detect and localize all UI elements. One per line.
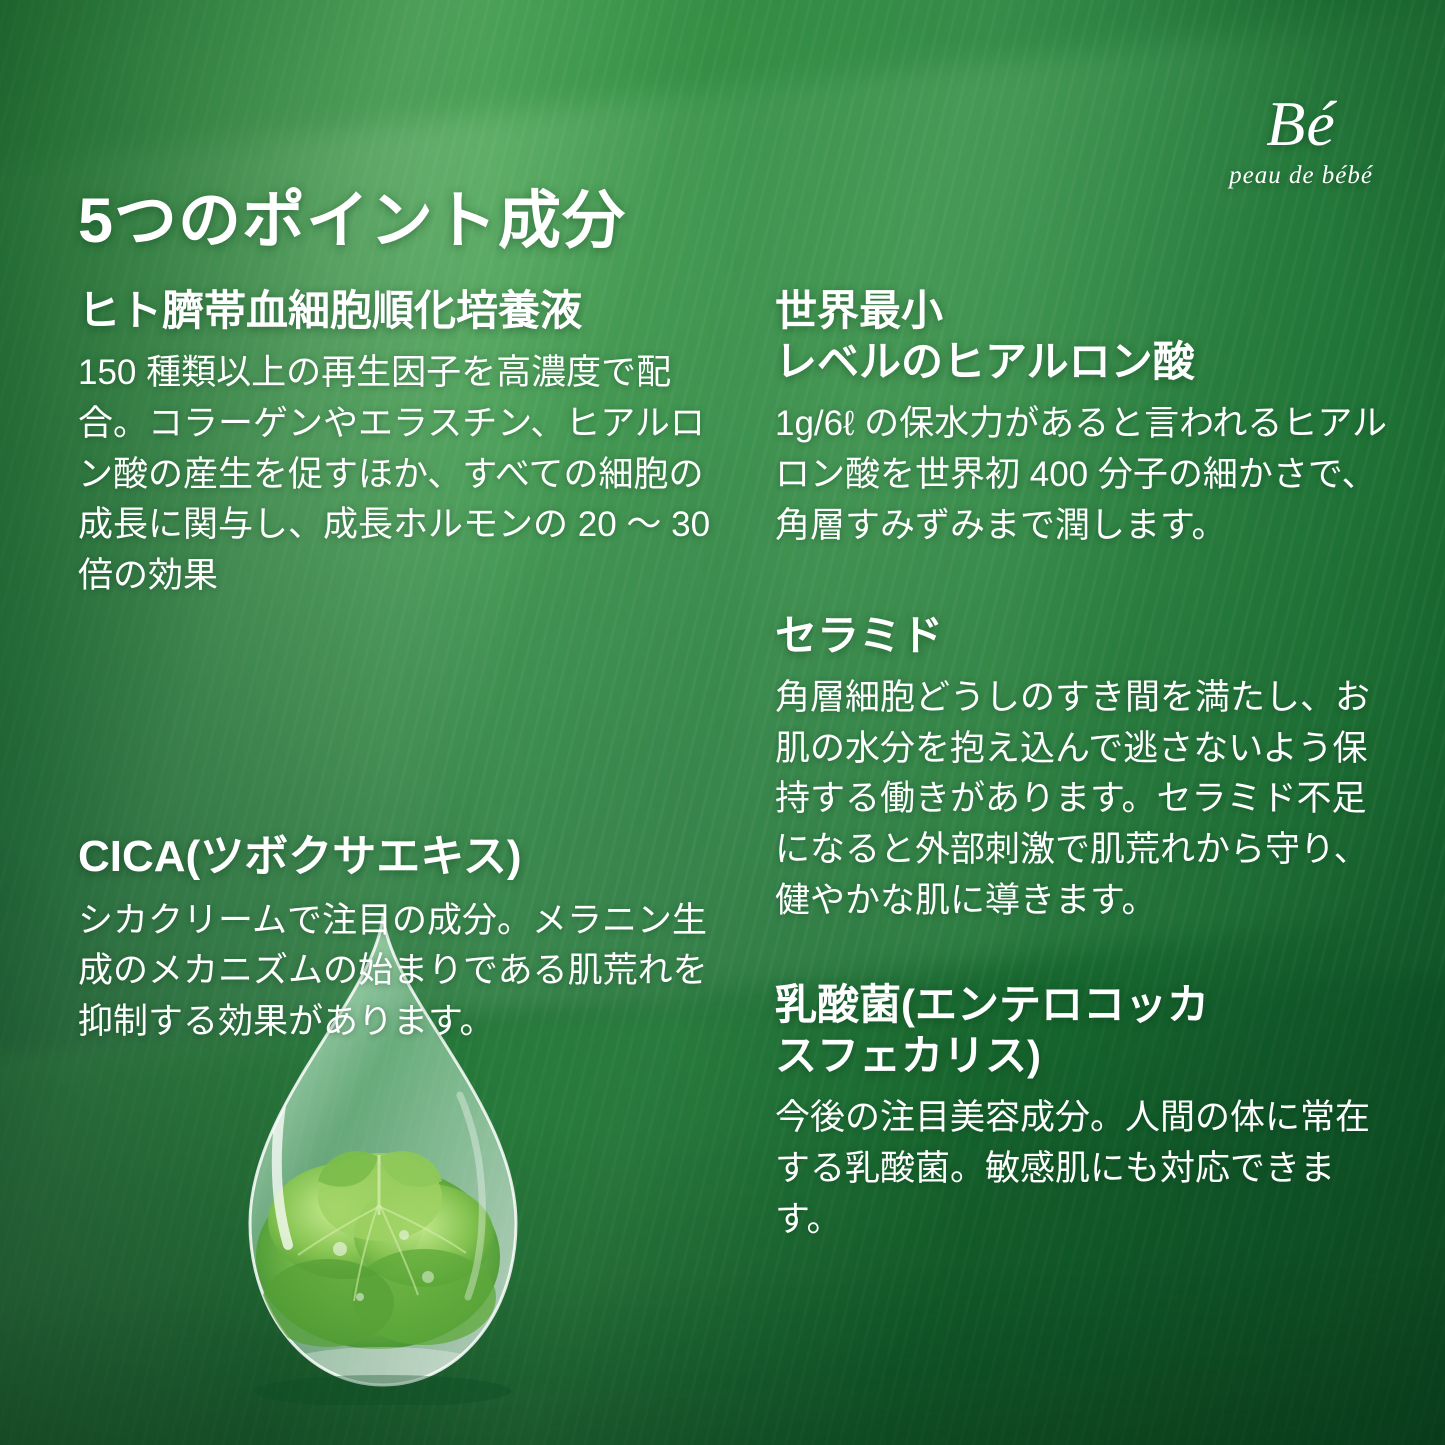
- brand-name: Bé: [1229, 92, 1373, 156]
- ingredient-body: 1g/6ℓ の保水力があると言われるヒアルロン酸を世界初 400 分子の細かさで…: [775, 399, 1395, 551]
- ingredient-block-lactic-acid-bacteria: 乳酸菌(エンテロコッカ スフェカリス) 今後の注目美容成分。人間の体に常在する乳…: [775, 979, 1395, 1246]
- ingredient-body: シカクリームで注目の成分。メラニン生成のメカニズムの始まりである肌荒れを抑制する…: [78, 896, 718, 1048]
- right-column: 世界最小 レベルのヒアルロン酸 1g/6ℓ の保水力があると言われるヒアルロン酸…: [775, 285, 1395, 1287]
- ingredient-heading: 乳酸菌(エンテロコッカ スフェカリス): [775, 979, 1395, 1081]
- brand-tagline: peau de bébé: [1229, 162, 1373, 190]
- page-title: 5つのポイント成分: [78, 170, 626, 261]
- poster-root: 5つのポイント成分 Bé peau de bébé ヒト臍帯血細胞順化培養液 1…: [0, 0, 1445, 1445]
- left-column: ヒト臍帯血細胞順化培養液 150 種類以上の再生因子を高濃度で配合。コラーゲンや…: [78, 285, 718, 1090]
- ingredient-block-cica: CICA(ツボクサエキス) シカクリームで注目の成分。メラニン生成のメカニズムの…: [78, 830, 718, 1048]
- ingredient-block-ceramide: セラミド 角層細胞どうしのすき間を満たし、お肌の水分を抱え込んで逃さないよう保持…: [775, 610, 1395, 927]
- ingredient-heading: 世界最小 レベルのヒアルロン酸: [775, 285, 1395, 387]
- ingredient-body: 今後の注目美容成分。人間の体に常在する乳酸菌。敏感肌にも対応できます。: [775, 1093, 1395, 1245]
- ingredient-block-umbilical: ヒト臍帯血細胞順化培養液 150 種類以上の再生因子を高濃度で配合。コラーゲンや…: [78, 285, 718, 602]
- ingredient-block-hyaluronic: 世界最小 レベルのヒアルロン酸 1g/6ℓ の保水力があると言われるヒアルロン酸…: [775, 285, 1395, 552]
- ingredient-body: 150 種類以上の再生因子を高濃度で配合。コラーゲンやエラスチン、ヒアルロン酸の…: [78, 348, 718, 602]
- ingredient-heading: CICA(ツボクサエキス): [78, 830, 718, 884]
- ingredient-heading: ヒト臍帯血細胞順化培養液: [78, 285, 718, 336]
- content-layer: 5つのポイント成分 Bé peau de bébé ヒト臍帯血細胞順化培養液 1…: [0, 0, 1445, 1445]
- ingredient-body: 角層細胞どうしのすき間を満たし、お肌の水分を抱え込んで逃さないよう保持する働きが…: [775, 673, 1395, 927]
- brand-logo: Bé peau de bébé: [1229, 92, 1373, 190]
- left-column-spacer: [78, 644, 718, 830]
- ingredient-heading: セラミド: [775, 610, 1395, 661]
